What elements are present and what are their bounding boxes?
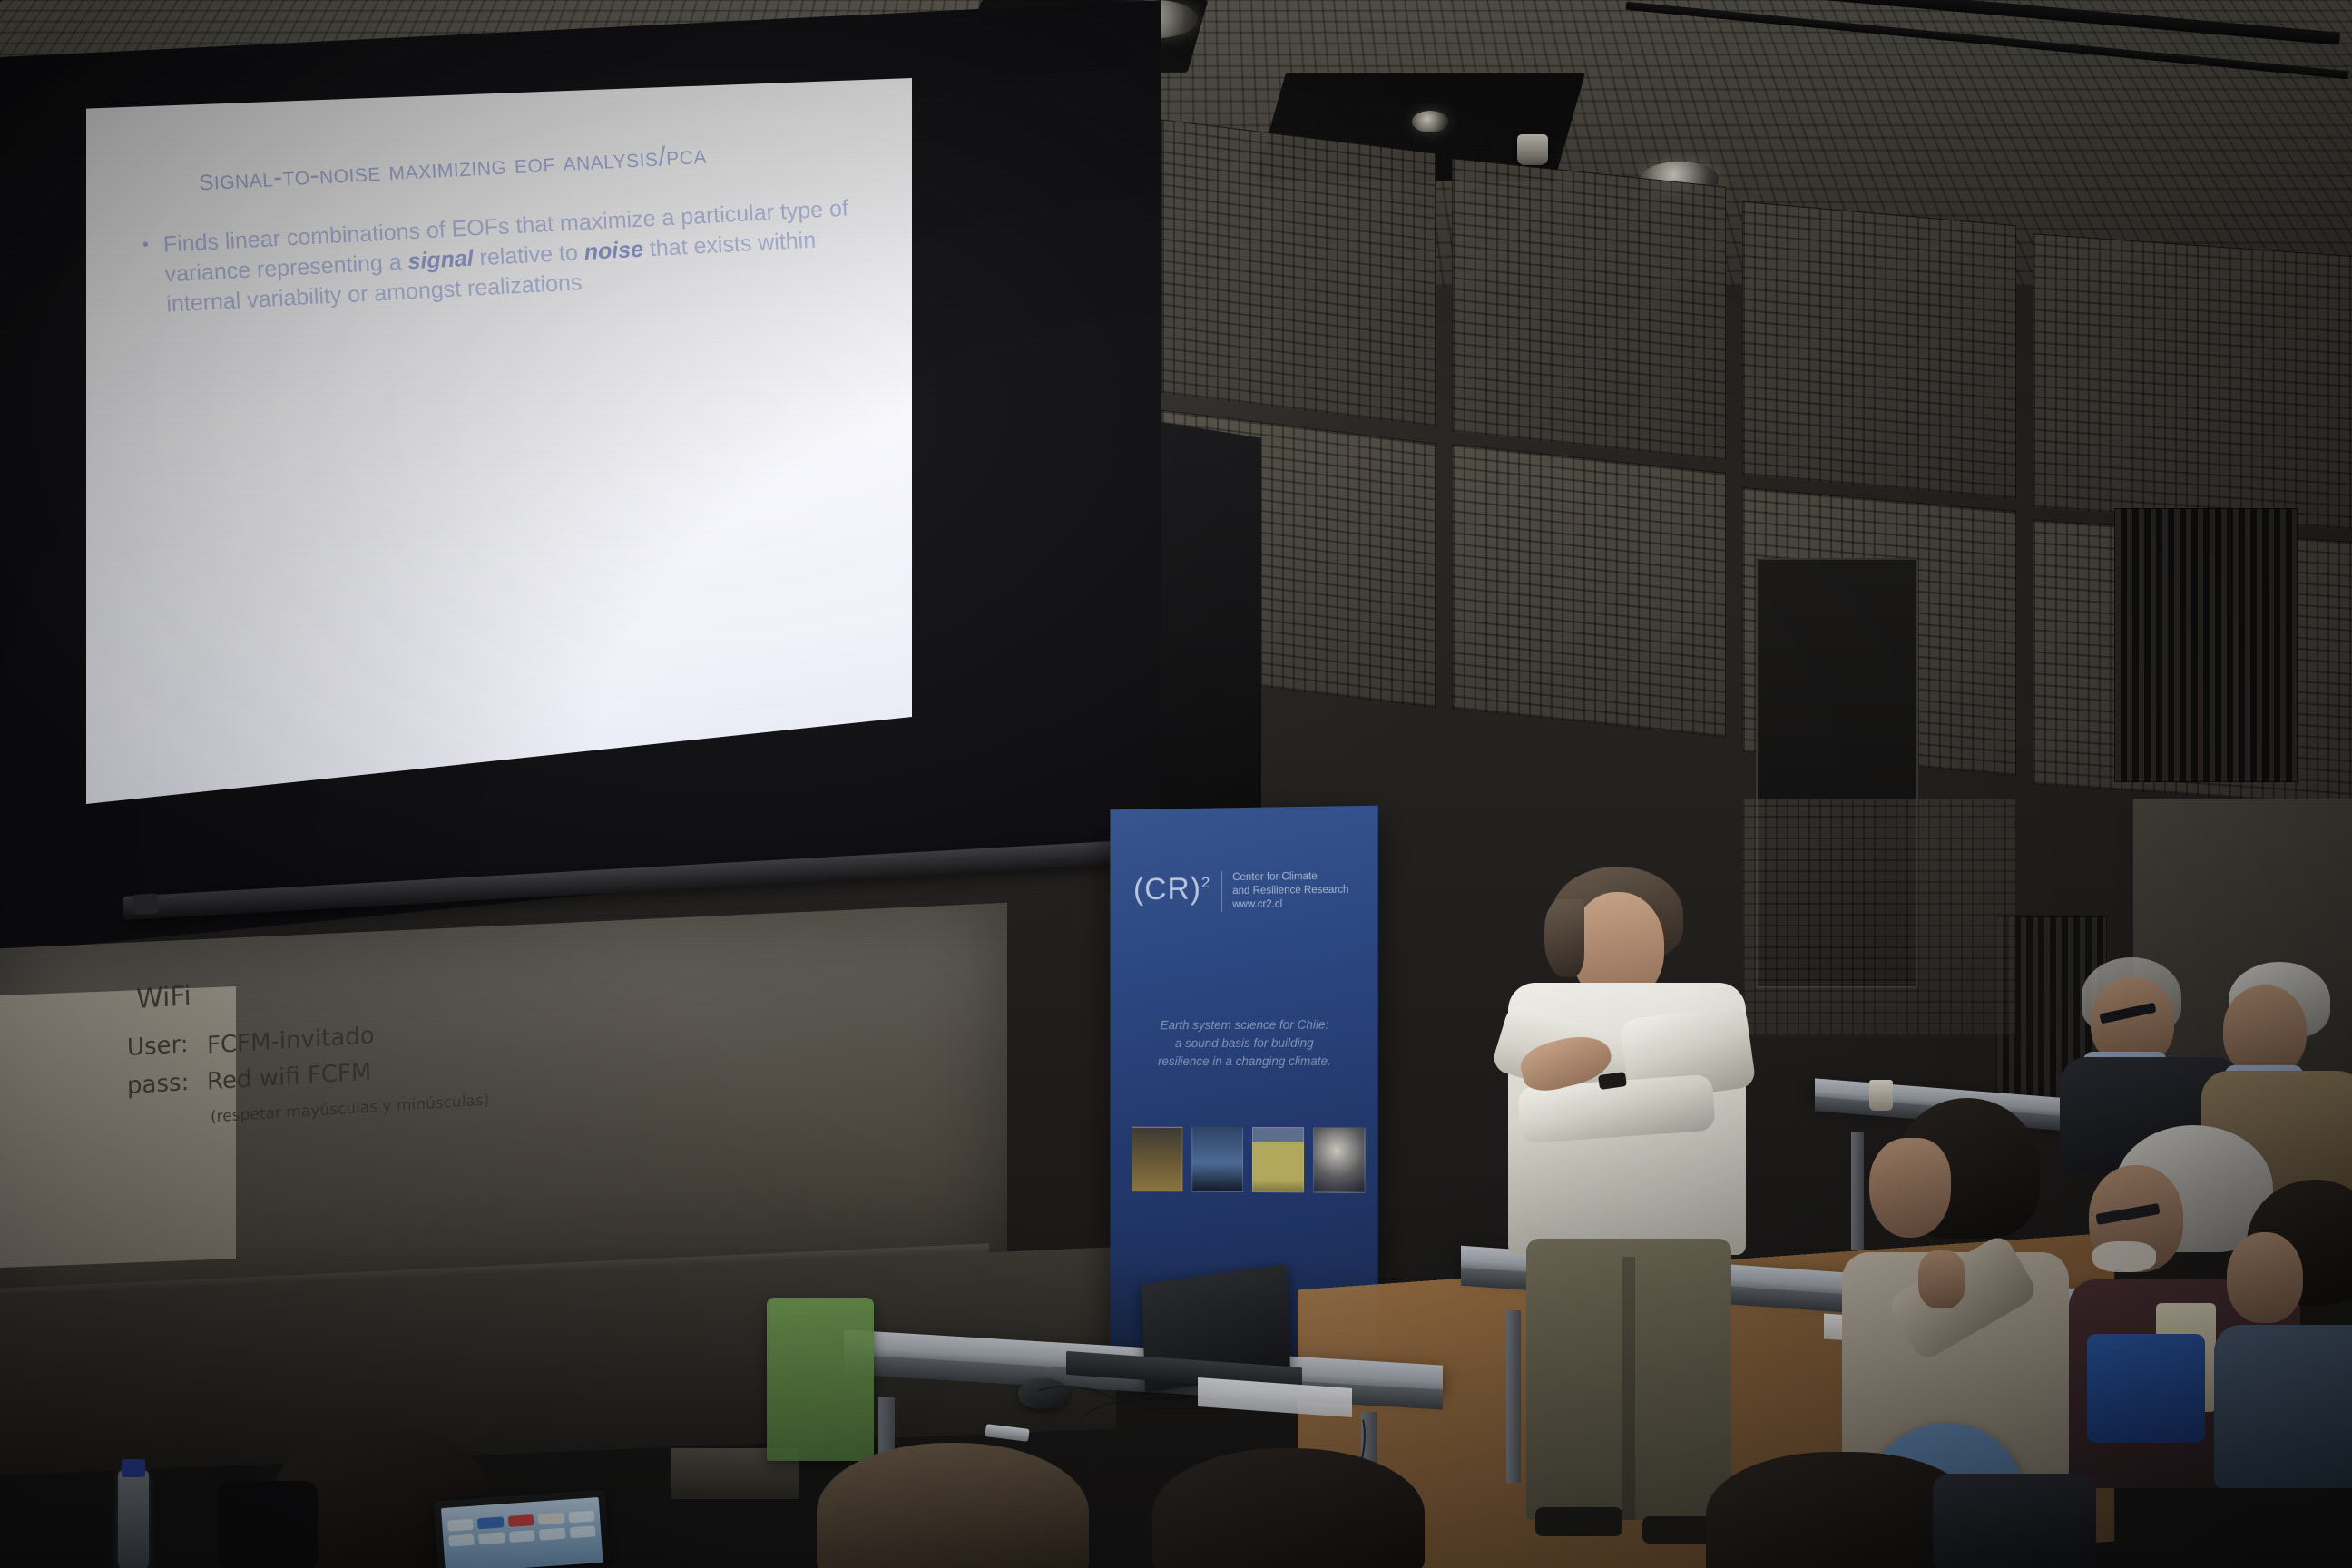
audience-beard xyxy=(2092,1241,2156,1272)
projected-slide: Signal-to-Noise Maximizing EOF Analysis/… xyxy=(86,34,949,803)
bullet-marker-icon: • xyxy=(142,231,152,321)
audience-face xyxy=(1869,1138,1951,1238)
silhouette-photo xyxy=(1191,1127,1243,1192)
emphasis-noise: noise xyxy=(583,237,644,265)
wifi-pass-label: pass: xyxy=(127,1069,190,1100)
tablet-icon-grid[interactable] xyxy=(447,1510,596,1546)
audience-backpack xyxy=(2087,1334,2205,1443)
wall-panel xyxy=(1452,158,1726,461)
audience-face xyxy=(2223,985,2307,1076)
audience-foreground-center xyxy=(817,1443,1116,1568)
audience-shoulder xyxy=(1933,1474,2096,1568)
presenter-shoe xyxy=(1535,1507,1622,1536)
audience-foreground-far-right xyxy=(1706,1452,2087,1568)
projection-screen: Signal-to-Noise Maximizing EOF Analysis/… xyxy=(0,0,1161,962)
cr2-superscript: 2 xyxy=(1201,874,1210,891)
screen-pull-handle[interactable] xyxy=(133,893,158,914)
app-icon[interactable] xyxy=(478,1532,505,1544)
app-icon[interactable] xyxy=(447,1519,474,1532)
wifi-heading: WiFi xyxy=(136,980,191,1015)
wall-panel xyxy=(2033,233,2352,530)
cr2-wordmark: (CR)2 xyxy=(1133,871,1210,907)
audience-hair xyxy=(817,1443,1089,1568)
cr2-photo-strip xyxy=(1132,1127,1366,1193)
wall-panel xyxy=(1742,201,2016,499)
whiteboard-paper-sheet xyxy=(0,986,236,1268)
app-icon[interactable] xyxy=(539,1528,565,1541)
audience-foreground-right xyxy=(1152,1448,1452,1568)
app-icon[interactable] xyxy=(477,1516,504,1529)
audience-tablet[interactable] xyxy=(433,1489,610,1568)
forest-photo xyxy=(1132,1127,1182,1192)
lecture-hall-photo: Signal-to-Noise Maximizing EOF Analysis/… xyxy=(0,0,2352,1568)
emphasis-signal: signal xyxy=(407,246,475,275)
bullet-part-2: relative to xyxy=(473,240,585,270)
app-icon[interactable] xyxy=(538,1513,564,1525)
slide-title: Signal-to-Noise Maximizing EOF Analysis/… xyxy=(198,128,852,198)
cr2-text: (CR) xyxy=(1133,872,1201,907)
org-line-2: and Resilience Research xyxy=(1232,884,1348,898)
wall-slats xyxy=(2114,508,2298,782)
wifi-user-label: User: xyxy=(127,1031,189,1062)
field-photo xyxy=(1252,1127,1304,1192)
audience-face xyxy=(2227,1232,2303,1323)
trouser-crease xyxy=(1622,1257,1635,1520)
audience-hair xyxy=(1152,1448,1425,1568)
tagline-line-2: a sound basis for building xyxy=(1126,1034,1363,1053)
sky-photo xyxy=(1313,1127,1365,1193)
water-bottle[interactable] xyxy=(118,1470,149,1568)
org-line-1: Center for Climate xyxy=(1232,870,1348,886)
audience-curly-hair xyxy=(2214,1180,2352,1488)
audience-hand xyxy=(1918,1250,1965,1308)
app-icon[interactable] xyxy=(568,1510,594,1523)
tagline-line-1: Earth system science for Chile: xyxy=(1126,1015,1363,1034)
cr2-org-name: Center for Climate and Resilience Resear… xyxy=(1221,870,1348,913)
app-icon[interactable] xyxy=(508,1514,534,1527)
presenter-hair-side xyxy=(1544,899,1584,977)
slide-bullet: • Finds linear combinations of EOFs that… xyxy=(142,192,871,320)
wall-panel xyxy=(1161,119,1436,426)
app-icon[interactable] xyxy=(569,1525,595,1538)
ceiling-downlight xyxy=(1412,111,1448,132)
green-chair[interactable] xyxy=(767,1298,874,1461)
slide-bullet-text: Finds linear combinations of EOFs that m… xyxy=(162,192,871,319)
tablet-screen[interactable] xyxy=(441,1497,603,1568)
bottle-cap xyxy=(122,1459,145,1477)
app-icon[interactable] xyxy=(448,1534,475,1547)
org-url: www.cr2.cl xyxy=(1232,897,1348,912)
cr2-logo: (CR)2 Center for Climate and Resilience … xyxy=(1133,870,1348,914)
audience-shoulder xyxy=(218,1481,318,1568)
audience-jacket xyxy=(2214,1325,2352,1488)
wall-panel xyxy=(1452,444,1726,738)
app-icon[interactable] xyxy=(509,1530,535,1543)
cr2-tagline: Earth system science for Chile: a sound … xyxy=(1126,1015,1363,1071)
smoke-detector xyxy=(1517,134,1548,165)
tagline-line-3: resilience in a changing climate. xyxy=(1126,1053,1363,1071)
